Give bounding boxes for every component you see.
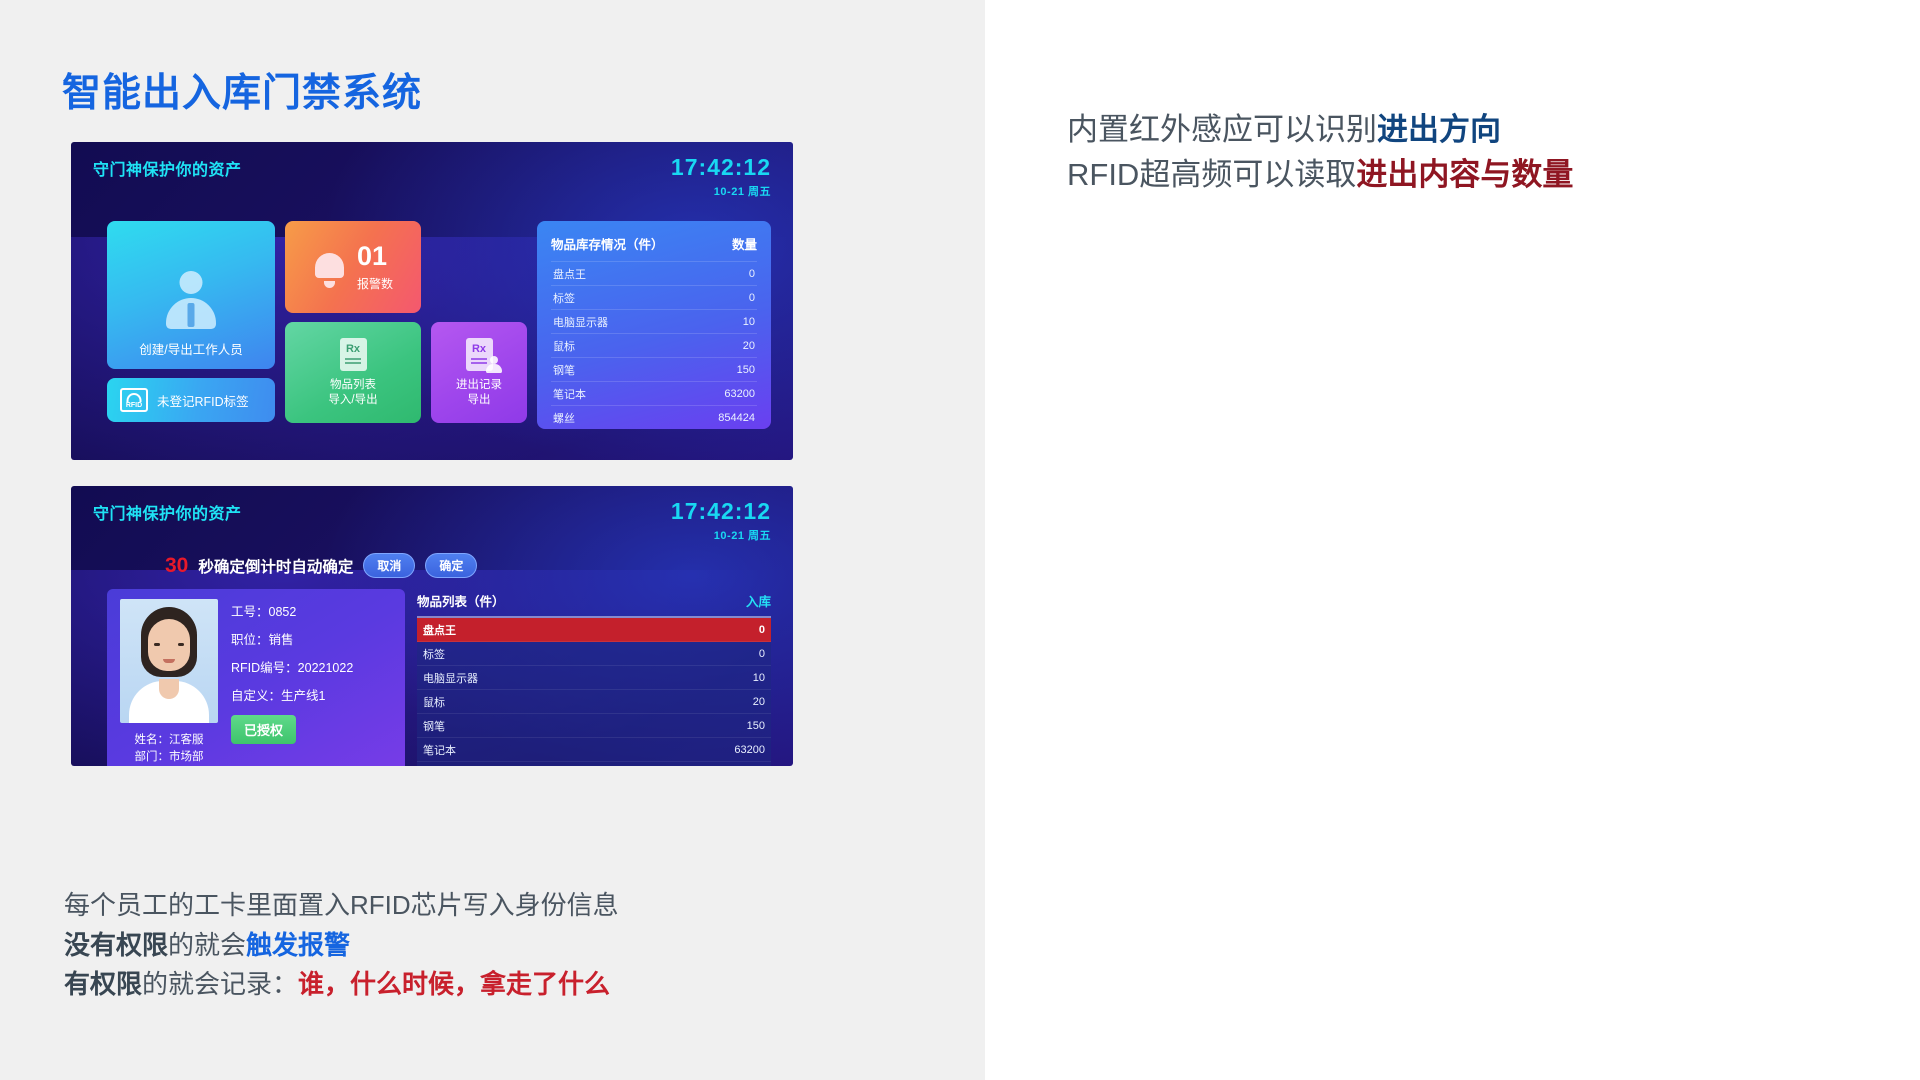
document-icon: Rx [340,338,367,371]
document-person-icon: Rx [466,338,493,371]
inventory-item-qty: 20 [743,340,755,352]
inventory-item-name: 标签 [553,290,575,306]
inventory-item-name: 螺丝 [553,410,575,426]
inventory-table-body: 盘点王0标签0电脑显示器10鼠标20钢笔150笔记本63200螺丝854424 [551,261,757,429]
necktie-shape [188,303,195,327]
tile-label-staff: 创建/导出工作人员 [139,339,242,358]
employee-field-list: 工号：0852 职位：销售 RFID编号：20221022 自定义：生产线1 已… [231,599,395,766]
inventory-item-qty: 0 [749,268,755,280]
item-name: 鼠标 [423,694,445,710]
employee-custom-field: 自定义：生产线1 [231,685,395,704]
inventory-item-name: 钢笔 [553,362,575,378]
panel-two-header: 守门神保护你的资产 17:42:12 10-21 周五 [71,486,793,543]
cancel-button[interactable]: 取消 [363,553,415,578]
caption-line-2-emphasis: 触发报警 [246,930,350,960]
right-heading-1-text: 内置红外感应可以识别 [1067,112,1377,147]
tile-label-line-1: 进出记录 [456,379,502,391]
employee-rfid-field: RFID编号：20221022 [231,657,395,676]
item-list-body: 盘点王0标签0电脑显示器10鼠标20钢笔150笔记本63200螺丝854424 [417,618,771,766]
tile-label-rfid: 未登记RFID标签 [157,391,249,410]
item-qty: 0 [759,624,765,636]
tile-label-record: 进出记录 导出 [456,378,502,408]
tile-create-export-staff[interactable]: 创建/导出工作人员 [107,221,275,369]
item-name: 螺丝 [423,766,445,767]
document-line [345,358,361,360]
inventory-table-header: 物品库存情况（件） 数量 [551,234,757,261]
left-content-column: 智能出入库门禁系统 守门神保护你的资产 17:42:12 10-21 周五 [0,0,985,1080]
employee-name: 姓名：江客服 [135,734,204,746]
panel-two-body: 姓名：江客服 部门：市场部 工号：0852 职位：销售 RFID编号：20221… [71,578,793,766]
tile-unregistered-rfid[interactable]: RFID 未登记RFID标签 [107,378,275,422]
caption-line-3: 有权限的就会记录：谁，什么时候，拿走了什么 [64,965,824,1005]
item-name: 笔记本 [423,742,456,758]
inventory-item-name: 电脑显示器 [553,314,608,330]
panel-one-header: 守门神保护你的资产 17:42:12 10-21 周五 [71,142,793,199]
inventory-item-name: 盘点王 [553,266,586,282]
inventory-row: 钢笔150 [551,357,757,381]
tile-column-left: 创建/导出工作人员 RFID 未登记RFID标签 [107,221,275,429]
clock-time: 17:42:12 [671,156,771,179]
clock-time: 17:42:12 [671,500,771,523]
dashboard-panel-overview: 守门神保护你的资产 17:42:12 10-21 周五 创建/导出工作人员 R [71,142,793,460]
alarm-text-group: 01 报警数 [357,243,393,292]
photo-collar-shape [159,679,179,699]
tile-item-list-import-export[interactable]: Rx 物品列表 导入/导出 [285,322,421,423]
item-name: 钢笔 [423,718,445,734]
clock-widget: 17:42:12 10-21 周五 [671,156,771,199]
item-qty: 20 [753,696,765,708]
item-list-row: 鼠标20 [417,690,771,714]
caption-line-2-part-b: 的就会 [168,930,246,960]
page-title: 智能出入库门禁系统 [62,62,422,118]
item-list-row: 钢笔150 [417,714,771,738]
countdown-seconds: 30 [165,554,188,578]
person-badge-icon [486,356,502,373]
countdown-text: 秒确定倒计时自动确定 [198,555,353,577]
caption-line-2: 没有权限的就会触发报警 [64,926,824,966]
alarm-count-label: 报警数 [357,275,393,292]
authorized-status-badge: 已授权 [231,715,296,744]
employee-card: 姓名：江客服 部门：市场部 工号：0852 职位：销售 RFID编号：20221… [107,589,405,766]
tile-label-line-2: 导入/导出 [328,394,377,406]
tile-label-line-2: 导出 [468,394,491,406]
person-icon [163,271,219,329]
item-list-row-alert: 盘点王0 [417,618,771,642]
inventory-row: 螺丝854424 [551,405,757,429]
employee-department: 部门：市场部 [135,751,204,763]
inventory-item-name: 笔记本 [553,386,586,402]
right-heading-2-emphasis: 进出内容与数量 [1356,157,1573,192]
inventory-row: 鼠标20 [551,333,757,357]
caption-line-2-part-a: 没有权限 [64,930,168,960]
tile-column-record: Rx 进出记录 导出 [431,221,527,429]
employee-position-field: 职位：销售 [231,629,395,648]
dashboard-panel-authorization: 守门神保护你的资产 17:42:12 10-21 周五 30 秒确定倒计时自动确… [71,486,793,766]
tile-spacer [431,221,527,313]
item-name: 盘点王 [423,622,456,638]
employee-photo-column: 姓名：江客服 部门：市场部 [119,599,219,766]
tile-entry-exit-record-export[interactable]: Rx 进出记录 导出 [431,322,527,423]
slide-root: 智能出入库门禁系统 守门神保护你的资产 17:42:12 10-21 周五 [0,0,1920,1080]
item-qty: 0 [759,648,765,660]
inventory-qty-header: 数量 [732,234,757,253]
employee-photo [120,599,218,723]
item-list-in-header: 入库 [746,591,771,610]
brand-slogan: 守门神保护你的资产 [93,156,242,180]
inventory-row: 盘点王0 [551,261,757,285]
inventory-table-card: 物品库存情况（件） 数量 盘点王0标签0电脑显示器10鼠标20钢笔150笔记本6… [537,221,771,429]
caption-line-1: 每个员工的工卡里面置入RFID芯片写入身份信息 [64,886,824,926]
inventory-item-name: 鼠标 [553,338,575,354]
caption-block: 每个员工的工卡里面置入RFID芯片写入身份信息 没有权限的就会触发报警 有权限的… [64,886,824,1005]
confirm-button[interactable]: 确定 [425,553,477,578]
inventory-row: 笔记本63200 [551,381,757,405]
item-qty: 10 [753,672,765,684]
alarm-count-value: 01 [357,243,393,270]
bell-icon [313,251,346,284]
clock-date: 10-21 周五 [671,183,771,199]
item-list-card: 物品列表（件） 入库 盘点王0标签0电脑显示器10鼠标20钢笔150笔记本632… [417,589,771,766]
document-rx-mark: Rx [472,344,486,355]
clock-widget: 17:42:12 10-21 周五 [671,500,771,543]
right-heading-block: 内置红外感应可以识别进出方向 RFID超高频可以读取进出内容与数量 [1067,108,1573,198]
clock-date: 10-21 周五 [671,527,771,543]
right-heading-line-2: RFID超高频可以读取进出内容与数量 [1067,153,1573,198]
item-name: 标签 [423,646,445,662]
brand-slogan: 守门神保护你的资产 [93,500,242,524]
item-list-row: 笔记本63200 [417,738,771,762]
caption-line-3-part-a: 有权限 [64,969,142,999]
item-list-row: 电脑显示器10 [417,666,771,690]
item-list-title: 物品列表（件） [417,591,505,610]
inventory-item-qty: 0 [749,292,755,304]
tile-label-item-list: 物品列表 导入/导出 [328,378,377,408]
caption-line-3-part-b: 的就会记录： [142,969,298,999]
inventory-item-qty: 854424 [718,412,755,424]
document-rx-mark: Rx [346,344,360,355]
photo-eye-right [178,643,184,646]
document-line [345,362,361,364]
item-qty: 63200 [734,744,765,756]
inventory-item-qty: 10 [743,316,755,328]
right-heading-2-text: RFID超高频可以读取 [1067,157,1356,192]
rfid-tag-icon: RFID [120,388,148,412]
item-list-row: 螺丝854424 [417,762,771,766]
employee-identity: 姓名：江客服 部门：市场部 [135,732,204,766]
caption-line-3-emphasis: 谁，什么时候，拿走了什么 [298,969,610,999]
tile-label-line-1: 物品列表 [330,379,376,391]
inventory-item-qty: 150 [737,364,755,376]
inventory-row: 电脑显示器10 [551,309,757,333]
item-list-row: 标签0 [417,642,771,666]
countdown-bar: 30 秒确定倒计时自动确定 取消 确定 [71,543,793,578]
inventory-item-qty: 63200 [724,388,755,400]
tile-alarm-count[interactable]: 01 报警数 [285,221,421,313]
panel-one-body: 创建/导出工作人员 RFID 未登记RFID标签 01 报警数 [71,199,793,455]
inventory-row: 标签0 [551,285,757,309]
item-qty: 150 [747,720,765,732]
right-heading-line-1: 内置红外感应可以识别进出方向 [1067,108,1573,153]
inventory-title: 物品库存情况（件） [551,234,664,253]
right-illustration-column: 内置红外感应可以识别进出方向 RFID超高频可以读取进出内容与数量 [985,0,1920,1080]
item-name: 电脑显示器 [423,670,478,686]
employee-id-field: 工号：0852 [231,601,395,620]
right-heading-1-emphasis: 进出方向 [1377,112,1501,147]
tile-column-middle: 01 报警数 Rx 物品列表 导入/导出 [285,221,421,429]
photo-eye-left [154,643,160,646]
item-list-header: 物品列表（件） 入库 [417,591,771,618]
